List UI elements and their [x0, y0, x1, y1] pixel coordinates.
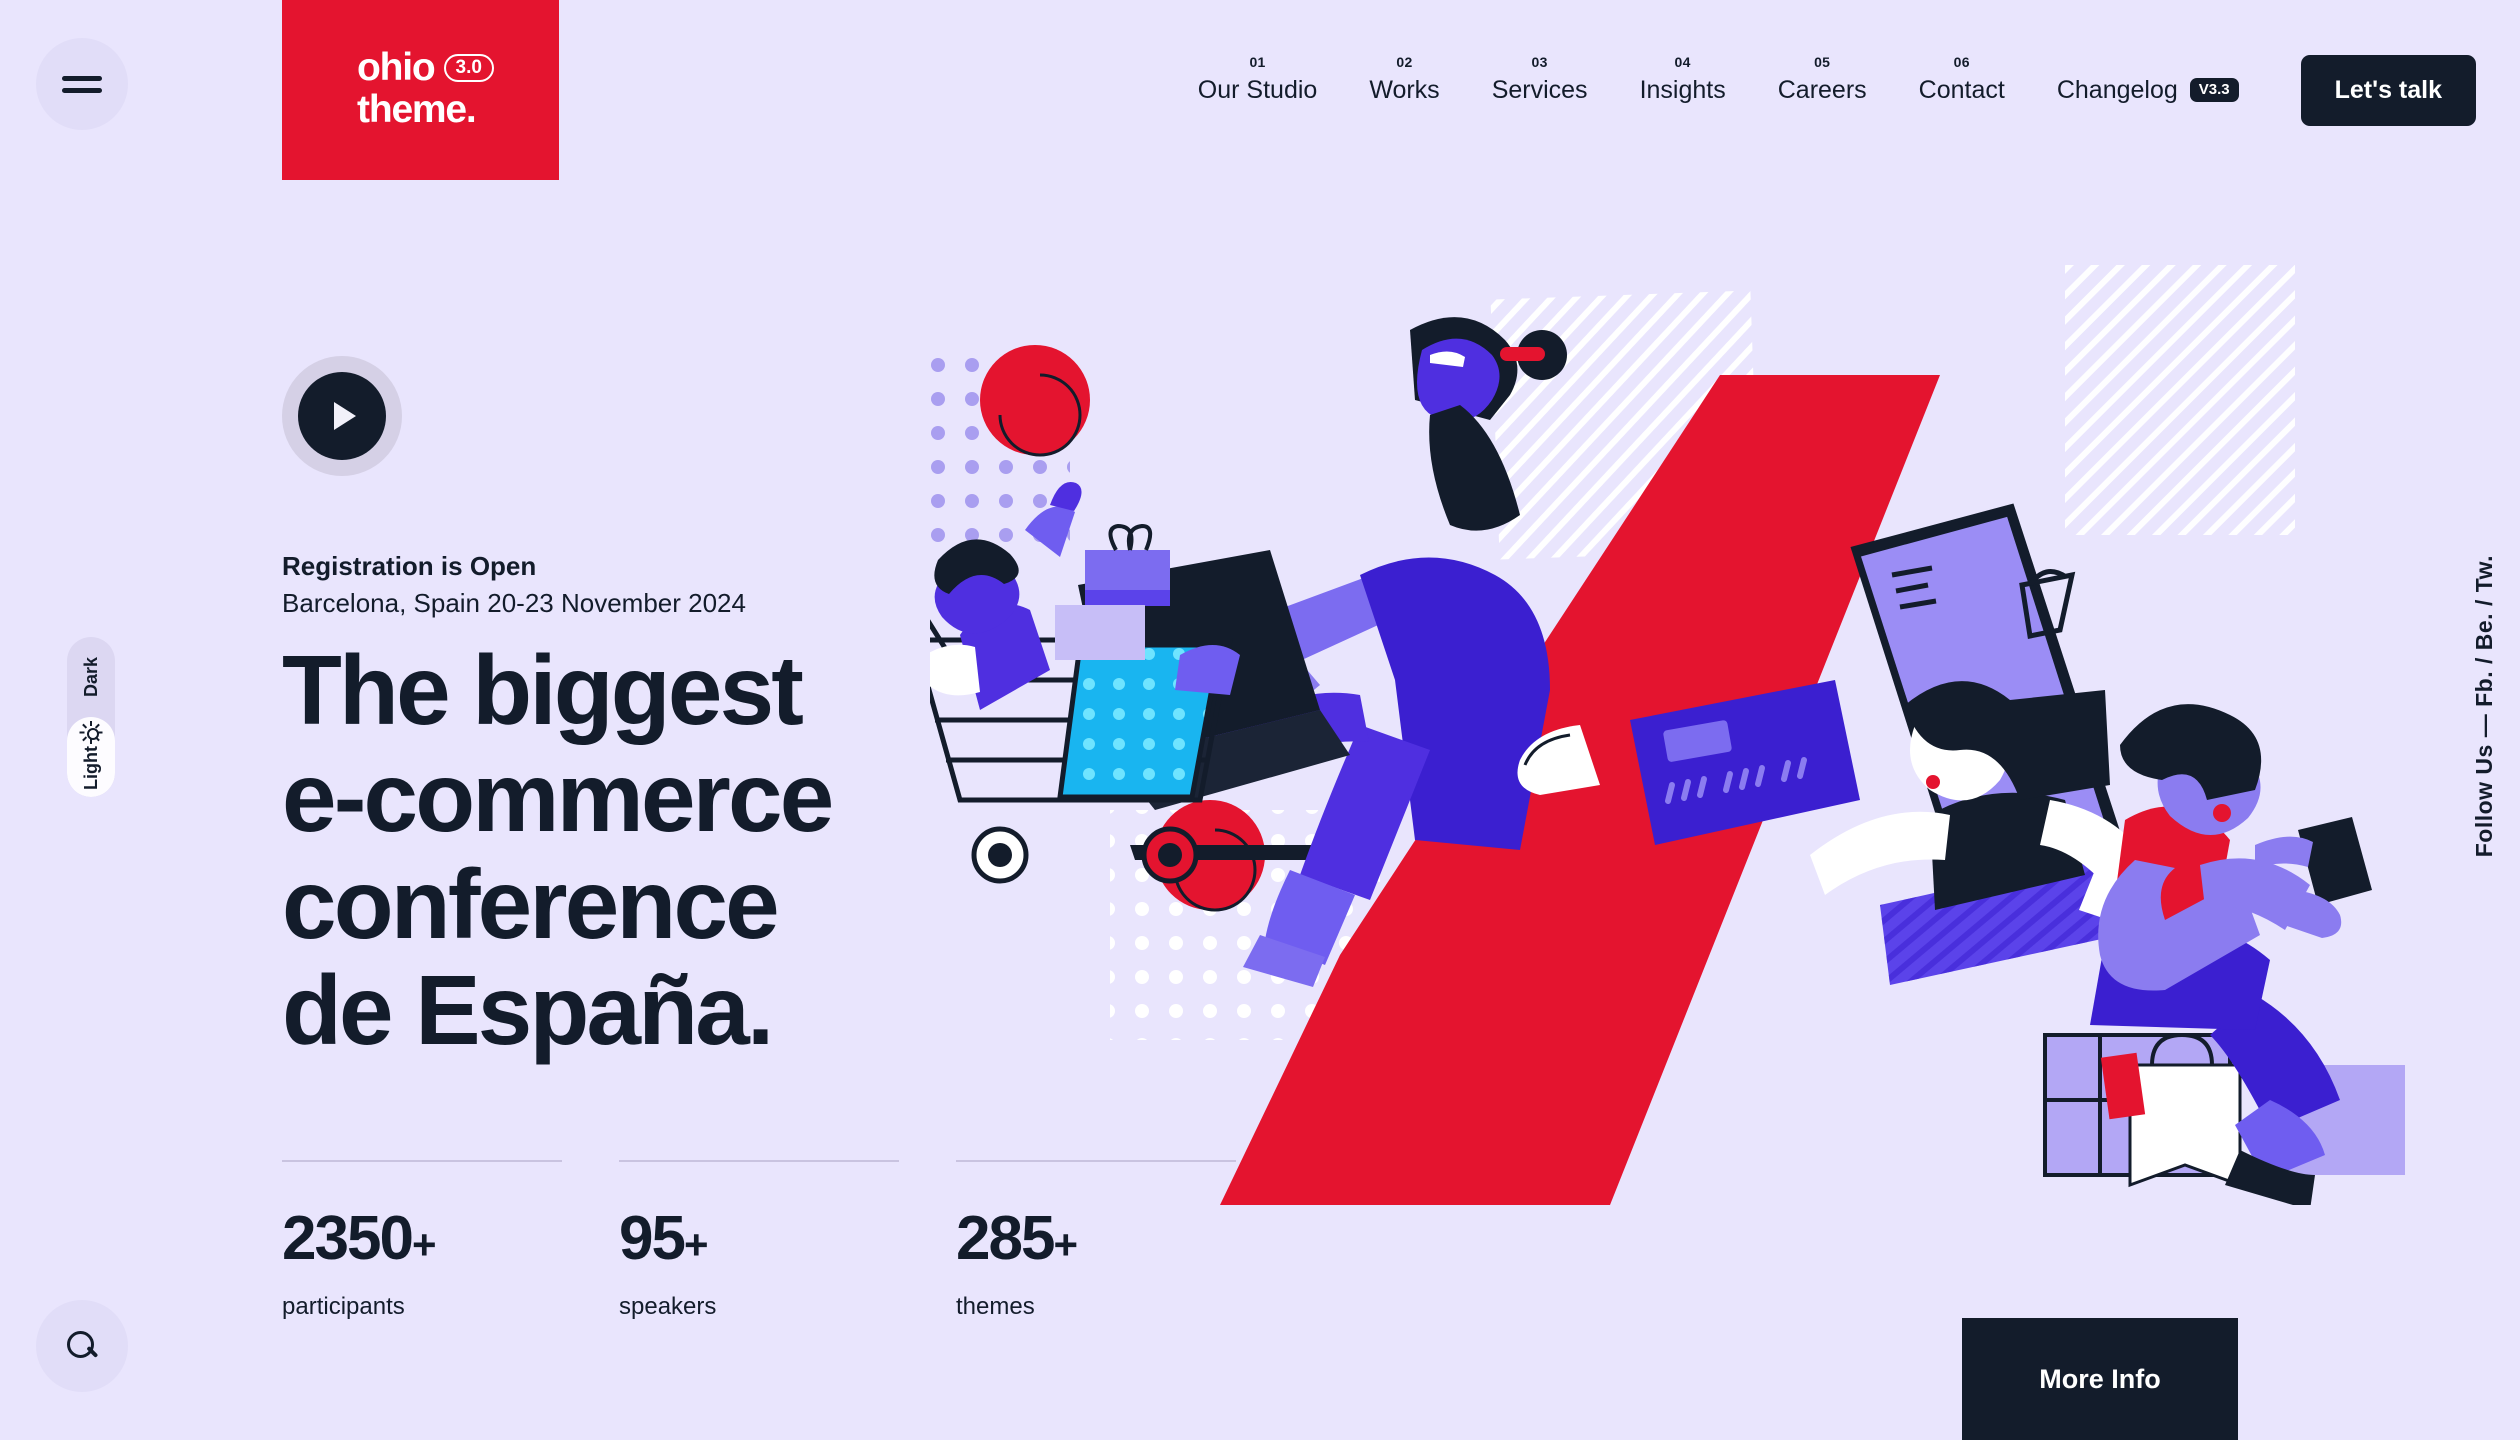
play-video-button[interactable] [282, 356, 402, 476]
follow-us-rail[interactable]: Follow Us — Fb. / Be. / Tw. [2471, 555, 2498, 857]
nav-item-contact[interactable]: 06 Contact [1893, 78, 2031, 103]
stat-participants: 2350+ participants [282, 1160, 562, 1321]
stat-suffix: + [412, 1221, 435, 1268]
nav-number: 03 [1532, 55, 1548, 69]
nav-item-works[interactable]: 02 Works [1343, 78, 1465, 103]
hatch-panel-right [2065, 265, 2295, 535]
hero-illustration [930, 255, 2470, 1205]
nav-label: Careers [1778, 76, 1867, 104]
theme-toggle-dark-label: Dark [81, 657, 102, 697]
nav-number: 05 [1814, 55, 1830, 69]
stat-number: 95 [619, 1204, 684, 1273]
stat-speakers: 95+ speakers [619, 1160, 899, 1321]
nav-label: Contact [1919, 76, 2005, 104]
page-root: ohio 3.0 theme. 01 Our Studio 02 Works 0… [0, 0, 2520, 1440]
nav-number: 04 [1675, 55, 1691, 69]
nav-number: 06 [1954, 55, 1970, 69]
nav-label: Works [1369, 76, 1439, 104]
version-badge: V3.3 [2190, 78, 2239, 102]
stat-number: 285 [956, 1204, 1053, 1273]
search-button[interactable] [36, 1300, 128, 1392]
nav-number: 01 [1249, 55, 1265, 69]
nav-item-services[interactable]: 03 Services [1466, 78, 1614, 103]
main-navigation: 01 Our Studio 02 Works 03 Services 04 In… [0, 0, 2520, 180]
stat-number: 2350 [282, 1204, 412, 1273]
red-circle-top [980, 345, 1090, 455]
more-info-button[interactable]: More Info [1962, 1318, 2238, 1440]
theme-toggle[interactable]: Dark Light [67, 637, 115, 797]
play-button-inner [298, 372, 386, 460]
ecommerce-illustration-svg [930, 255, 2470, 1205]
lets-talk-button[interactable]: Let's talk [2301, 55, 2476, 126]
stat-label: speakers [619, 1293, 899, 1321]
stat-value: 285+ [956, 1208, 1236, 1270]
phone-figure [1810, 498, 2147, 985]
sun-icon [84, 725, 99, 740]
nav-label: Services [1492, 76, 1588, 104]
nav-number: 02 [1396, 55, 1412, 69]
nav-label: Insights [1640, 76, 1726, 104]
stat-label: participants [282, 1293, 562, 1321]
theme-toggle-light[interactable]: Light [67, 717, 115, 797]
nav-label: Changelog [2057, 76, 2178, 105]
theme-toggle-dark[interactable]: Dark [67, 637, 115, 717]
nav-item-changelog[interactable]: Changelog V3.3 [2031, 76, 2265, 105]
gift-box [1085, 526, 1170, 606]
stat-divider [282, 1160, 562, 1162]
stat-value: 2350+ [282, 1208, 562, 1270]
nav-label: Our Studio [1198, 76, 1318, 104]
stat-divider [619, 1160, 899, 1162]
stat-value: 95+ [619, 1208, 899, 1270]
nav-item-insights[interactable]: 04 Insights [1614, 78, 1752, 103]
search-icon [67, 1331, 97, 1361]
stat-suffix: + [684, 1221, 707, 1268]
nav-item-our-studio[interactable]: 01 Our Studio [1172, 78, 1344, 103]
stat-label: themes [956, 1293, 1236, 1321]
stat-suffix: + [1053, 1221, 1076, 1268]
nav-items: 01 Our Studio 02 Works 03 Services 04 In… [1172, 55, 2476, 126]
play-icon [334, 402, 356, 430]
nav-item-careers[interactable]: 05 Careers [1752, 78, 1893, 103]
theme-toggle-light-label: Light [81, 746, 102, 790]
